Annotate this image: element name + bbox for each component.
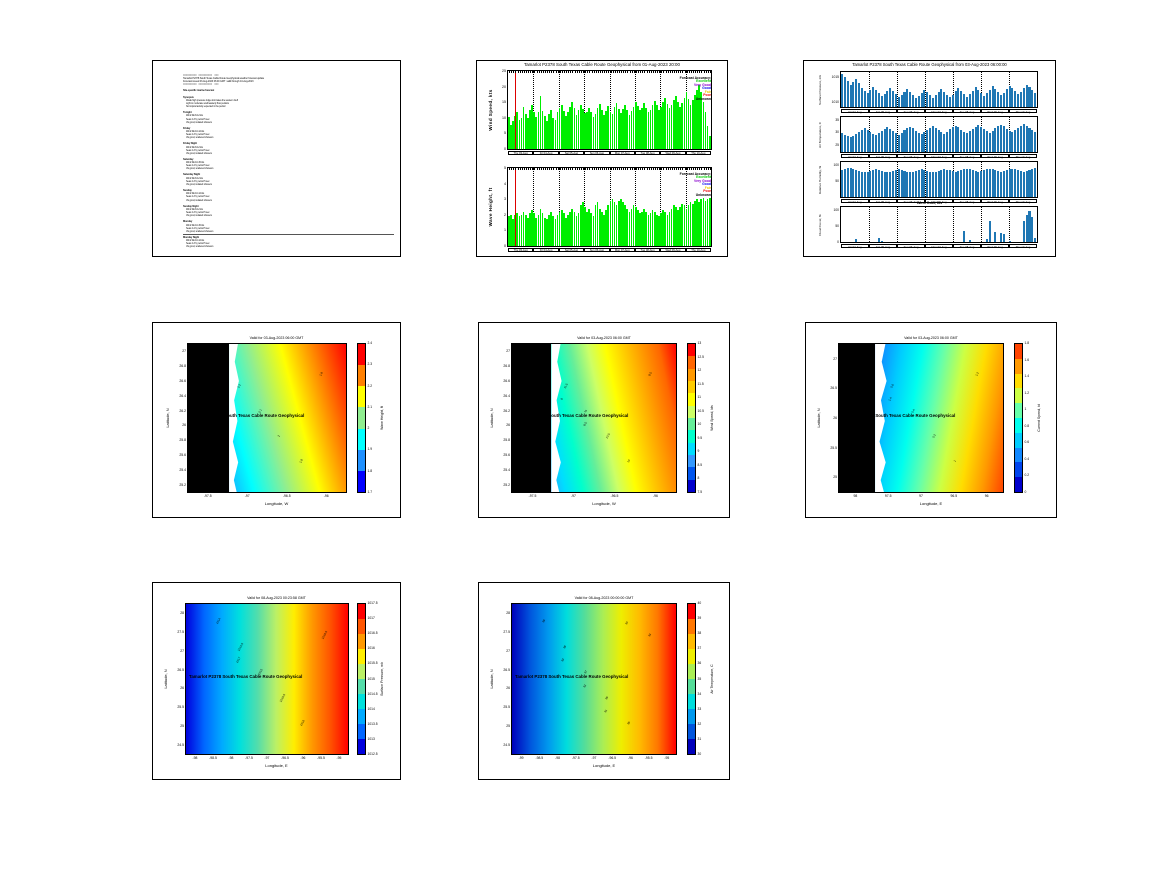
data-bar [923,170,925,197]
y-tick-label: 28 [169,611,184,615]
air-temperature-timeseries-plot [840,116,1038,153]
data-bar [1000,172,1002,197]
map-overlay-text: Tamarlot P2378 South Texas Cable Route G… [842,413,955,418]
map-overlay-text: Tamarlot P2378 South Texas Cable Route G… [189,674,302,679]
y-tick-label: 28 [495,611,510,615]
x-tick-label: -96.5 [603,494,627,498]
data-bar [841,170,843,197]
data-bar [850,168,852,197]
day-axis-label: Sat 05-Aug [869,244,897,249]
colorbar-tick-label: 1.4 [1025,374,1030,378]
data-bar [952,95,954,108]
colorbar-segment [358,619,365,634]
data-bar [895,133,897,152]
colorbar-segment [688,418,695,430]
top-tick [526,168,527,170]
y-tick-label: 27.5 [169,630,184,634]
colorbar [687,343,696,493]
data-bar [884,172,886,197]
y-tick-label: 1010 [822,100,839,104]
data-bar [966,97,968,108]
data-bar [855,134,857,153]
top-tick [602,71,603,73]
data-bar [957,88,959,107]
colorbar-tick-label: 1017.5 [368,601,378,605]
top-tick [566,168,567,170]
data-bar [1003,234,1005,242]
top-tick [699,168,700,170]
y-tick-label: 27 [822,357,837,361]
y-tick-label: 27 [495,349,510,353]
data-bar [841,133,843,152]
top-tick [513,168,514,170]
y-tick-label: 0 [494,147,506,151]
top-tick [649,71,650,73]
colorbar-tick-label: 2.2 [368,384,373,388]
y-tick-label: 26 [171,423,186,427]
day-axis-label: Thu 10-Aug [1009,109,1037,114]
top-tick [581,71,582,73]
day-axis-label: Sat 05-Aug [559,151,584,156]
day-axis-label: Wed 09-Aug [981,244,1009,249]
data-bar [966,133,968,152]
top-tick [701,168,702,170]
data-bar [901,133,903,153]
top-tick [632,168,633,170]
top-tick [562,71,563,73]
data-bar [975,127,977,153]
map-title: Valid for 08-Aug-2023 00:23:58 GMT [153,596,400,600]
top-tick [647,71,648,73]
top-tick [634,168,635,170]
y-axis-label: Latitude, N [163,669,168,688]
top-tick [594,71,595,73]
data-bar [895,170,897,197]
data-bar [992,86,994,107]
top-tick [647,168,648,170]
y-tick-label: 25.2 [171,483,186,487]
data-bar [852,136,854,153]
x-tick-label: -96 [314,494,338,498]
top-tick [676,71,677,73]
data-bar [972,170,974,197]
data-bar [1031,217,1033,242]
top-tick [680,168,681,170]
y-axis-label: Wind Speed, kts [488,89,493,130]
day-axis-label: Sun 06-Aug [897,244,925,249]
data-bar [869,90,871,107]
x-tick-label: -96 [644,494,668,498]
data-bar [844,77,846,107]
data-bar [972,91,974,108]
colorbar-tick-label: 13 [698,341,702,345]
y-tick-label: 26.5 [169,668,184,672]
map-title: Valid for 03-Aug-2023 06:00 GMT [479,336,729,340]
data-bar [1003,93,1005,108]
colorbar-segment [358,679,365,694]
top-tick [575,168,576,170]
top-tick [636,71,637,73]
data-bar [1023,88,1025,107]
top-tick [606,168,607,170]
day-axis-label: Fri 04-Aug [841,109,869,114]
colorbar-tick-label: 1015 [368,677,375,681]
y-tick-label: 25 [494,69,506,73]
colorbar-tick-label: 8.5 [698,463,703,467]
colorbar-segment [358,694,365,709]
y-tick-label: 25.6 [171,453,186,457]
data-bar [1034,132,1036,153]
top-tick [564,71,565,73]
day-axis-label: Sat 05-Aug [559,248,584,253]
day-axis-label: Mon 07-Aug [610,248,635,253]
top-tick [657,168,658,170]
y-tick-label: 26 [495,423,510,427]
top-tick [545,168,546,170]
top-tick [608,168,609,170]
data-bar [1026,171,1028,197]
current-speed-map-plot: 0.80.60.40.211.21.4 [838,343,1004,493]
day-axis-label: Thu 10-Aug [1009,154,1037,159]
data-bar [977,172,979,197]
report-divider [183,234,394,235]
top-tick [547,71,548,73]
data-bar [878,133,880,152]
top-tick [596,168,597,170]
colorbar-segment [688,455,695,467]
data-bar [1034,93,1036,107]
top-tick [630,71,631,73]
top-tick [649,168,650,170]
data-bar [1020,126,1022,153]
data-bar [884,94,886,107]
colorbar-label: Surface Pressure, mb [380,662,384,696]
colorbar-segment [1015,359,1022,374]
legend-item: Unknown [627,194,711,197]
top-tick [676,168,677,170]
day-gridline [869,207,870,242]
colorbar-segment [688,724,695,739]
top-tick [589,168,590,170]
colorbar-segment [358,649,365,664]
top-tick [659,71,660,73]
top-tick [579,71,580,73]
data-bar [966,169,968,197]
top-tick [556,71,557,73]
colorbar-segment [688,406,695,418]
data-bar [943,92,945,108]
top-tick [710,71,711,73]
top-tick [687,168,688,170]
y-tick-label: 26 [495,686,510,690]
x-tick-label: 97.5 [876,494,900,498]
colorbar-tick-label: 10 [698,422,702,426]
top-tick [691,168,692,170]
data-bar [855,239,857,242]
day-axis-label: Tue 08-Aug [953,109,981,114]
top-tick [653,168,654,170]
data-bar [864,91,866,107]
data-bar [878,238,880,242]
colorbar [357,343,366,493]
top-tick [619,168,620,170]
data-bar [892,171,894,197]
top-tick [644,71,645,73]
top-tick [570,71,571,73]
y-tick-label: 5 [494,131,506,135]
top-tick [579,168,580,170]
data-bar [709,198,711,246]
data-bar [994,89,996,107]
chart-title: Tamarlot P2378 South Texas Cable Route G… [477,62,727,67]
data-bar [1023,124,1025,152]
day-gridline [897,207,898,242]
data-bar [906,128,908,152]
top-tick [524,168,525,170]
top-tick [613,168,614,170]
colorbar-tick-label: 11.5 [698,382,704,386]
x-tick-label: 98 [843,494,867,498]
data-bar [923,90,925,108]
colorbar-tick-label: 1.8 [1025,341,1030,345]
y-tick-label: 27 [171,349,186,353]
data-bar [932,126,934,152]
colorbar-tick-label: 10.5 [698,409,704,413]
data-bar [881,96,883,107]
data-bar [960,91,962,108]
top-tick [689,168,690,170]
y-tick-label: 35 [822,118,839,122]
chart-title: Tamarlot P2378 South Texas Cable Route G… [804,62,1055,67]
y-tick-label: 15 [494,100,506,104]
colorbar-tick-label: 1.8 [368,469,373,473]
data-bar [909,92,911,107]
top-tick [551,71,552,73]
day-axis-label: Mon 07-Aug [610,151,635,156]
top-tick [566,71,567,73]
surface-pressure-map-plot: 10141014.510151015.510161016.51017 [185,603,349,755]
top-tick [640,71,641,73]
colorbar-segment [358,407,365,428]
day-gridline [953,207,954,242]
top-tick [532,168,533,170]
top-tick [564,168,565,170]
land-mask [188,344,229,492]
current-time-line [515,71,516,149]
data-bar [864,172,866,197]
colorbar-segment [358,709,365,724]
top-tick [657,71,658,73]
y-tick-label: 26.4 [171,394,186,398]
data-bar [918,96,920,108]
colorbar-segment [358,739,365,754]
data-bar [1023,172,1025,197]
colorbar-segment [688,634,695,649]
data-bar [1017,128,1019,153]
data-bar [992,131,994,153]
x-axis-label: Longitude, W [153,501,400,506]
data-bar [844,135,846,153]
data-bar [858,171,860,197]
top-tick [640,168,641,170]
top-tick [553,168,554,170]
top-tick [541,168,542,170]
top-tick [617,168,618,170]
data-bar [889,129,891,153]
data-bar [855,170,857,197]
day-axis-label: Sat 05-Aug [869,109,897,114]
y-tick-label: 26.2 [171,409,186,413]
data-bar [867,93,869,107]
data-bar [875,135,877,152]
data-bar [986,169,988,197]
data-bar [861,172,863,197]
y-tick-label: 26.5 [822,386,837,390]
top-tick [556,168,557,170]
data-bar [869,132,871,153]
top-tick [518,71,519,73]
data-bar [847,168,849,197]
top-tick [621,71,622,73]
colorbar-segment [688,709,695,724]
data-bar [886,91,888,108]
wave-height-map-plot: 2.32.22.121.91.8 [187,343,347,493]
data-bar [898,169,900,197]
colorbar-segment [358,724,365,739]
data-bar [1003,171,1005,197]
top-tick [537,71,538,73]
data-bar [938,130,940,152]
data-bar [1014,169,1016,197]
y-tick-label: 100 [822,163,839,167]
top-tick [570,168,571,170]
data-bar [940,132,942,152]
data-bar [884,129,886,153]
y-tick-label: 27 [495,649,510,653]
top-tick [693,168,694,170]
top-tick [604,168,605,170]
y-tick-label: 25 [822,475,837,479]
colorbar-tick-label: 12 [698,368,702,372]
y-tick-label: 25.6 [495,453,510,457]
data-bar [989,90,991,108]
top-tick [666,71,667,73]
met-parameters-panel: Tamarlot P2378 South Texas Cable Route G… [803,60,1056,257]
top-tick [541,71,542,73]
y-tick-label: 100 [822,208,839,212]
data-bar [903,171,905,197]
top-tick [530,71,531,73]
top-tick [528,168,529,170]
y-tick-label: 26 [822,416,837,420]
colorbar-tick-label: 1015.5 [368,661,378,665]
data-bar [895,94,897,107]
data-bar [926,171,928,197]
colorbar-tick-label: 1 [1025,407,1027,411]
data-bar [901,95,903,107]
top-tick [539,71,540,73]
colorbar-tick-label: 1013.5 [368,722,378,726]
data-bar [929,172,931,197]
top-tick [668,71,669,73]
wave-height-map-panel: Valid for 03-Aug-2023 06:00 GMT2.32.22.1… [152,322,401,518]
data-bar [869,171,871,197]
top-tick [528,71,529,73]
data-bar [844,169,846,197]
report-block-line: Vis good, scattered showers [183,230,394,233]
top-tick [704,71,705,73]
data-bar [963,169,965,197]
forecast-report-text: ========== ========== ===Tamarlot P2378 … [183,74,394,252]
data-bar [929,95,931,107]
data-bar [886,127,888,152]
data-bar [915,171,917,197]
day-axis-label: Wed 09-Aug [660,248,685,253]
data-bar [932,172,934,197]
data-bar [861,130,863,153]
top-tick [596,71,597,73]
top-tick [577,71,578,73]
colorbar-segment [688,739,695,754]
y-axis-label: Latitude, N [489,408,494,427]
top-tick [572,168,573,170]
top-tick [693,71,694,73]
colorbar-segment [358,365,365,386]
top-tick [600,71,601,73]
top-tick [701,71,702,73]
data-bar [858,83,860,107]
colorbar-tick-label: 2.1 [368,405,373,409]
data-bar [952,171,954,197]
colorbar-tick-label: 2 [368,426,370,430]
land-mask [839,344,875,492]
day-axis-label: Wed 09-Aug [981,109,1009,114]
top-tick [708,71,709,73]
x-tick-label: 97 [909,494,933,498]
x-tick-label: -95 [327,756,351,760]
top-tick [530,168,531,170]
map-title: Valid for 03-Aug-2023 06:00 GMT [153,336,400,340]
y-axis-label: Relative Humidity, % [818,165,822,193]
data-bar [1000,95,1002,107]
top-tick [600,168,601,170]
day-gridline [981,207,982,242]
y-tick-label: 25.4 [171,468,186,472]
top-tick [568,168,569,170]
data-bar [918,133,920,153]
colorbar-segment [688,480,695,492]
data-bar [898,97,900,107]
data-bar [881,171,883,197]
y-tick-label: 0 [494,244,506,248]
x-tick-label: 96 [975,494,999,498]
data-bar [1014,130,1016,152]
colorbar-tick-label: 0.2 [1025,473,1030,477]
colorbar-tick-label: 38 [698,631,702,635]
top-tick [680,71,681,73]
data-bar [847,136,849,152]
top-tick [697,71,698,73]
data-bar [881,241,883,242]
top-tick [706,168,707,170]
data-bar [901,170,903,197]
map-title: Valid for 03-Aug-2023 06:00 GMT [806,336,1056,340]
data-bar [986,239,988,242]
map-overlay-text: Tamarlot P2378 South Texas Cable Route G… [515,413,628,418]
top-tick [602,168,603,170]
data-bar [850,137,852,152]
x-tick-label: -96.5 [275,494,299,498]
